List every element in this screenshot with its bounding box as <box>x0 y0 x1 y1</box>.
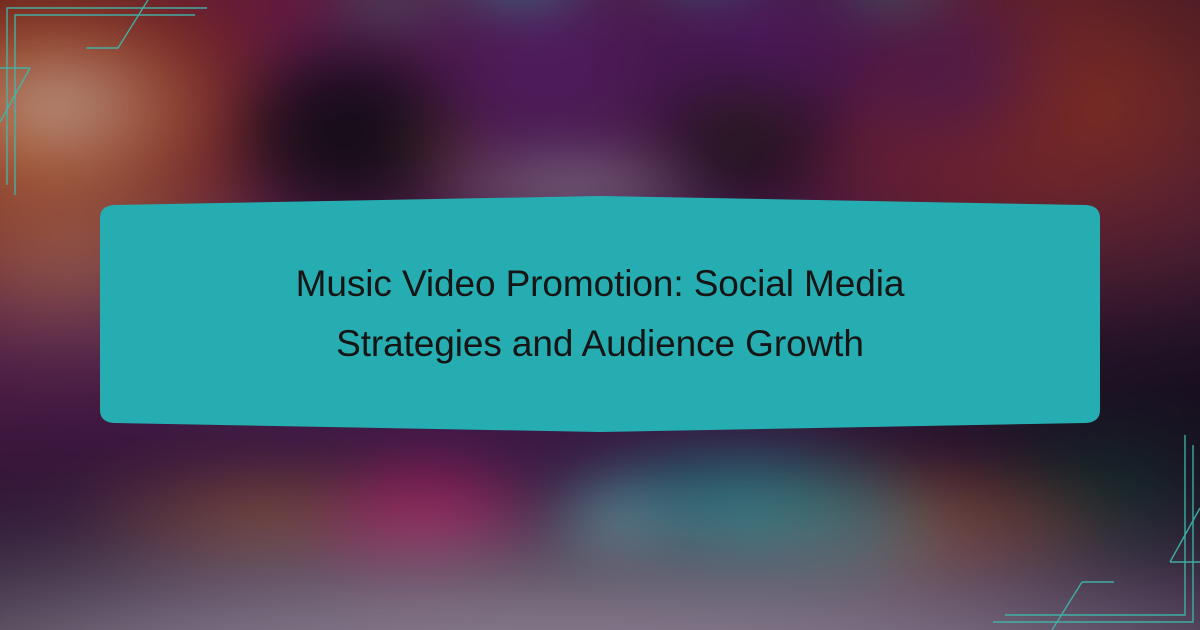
title-banner-text-area: Music Video Promotion: Social Media Stra… <box>100 196 1100 432</box>
page-title: Music Video Promotion: Social Media Stra… <box>220 254 980 374</box>
share-card-canvas: Music Video Promotion: Social Media Stra… <box>0 0 1200 630</box>
title-banner: Music Video Promotion: Social Media Stra… <box>100 196 1100 432</box>
